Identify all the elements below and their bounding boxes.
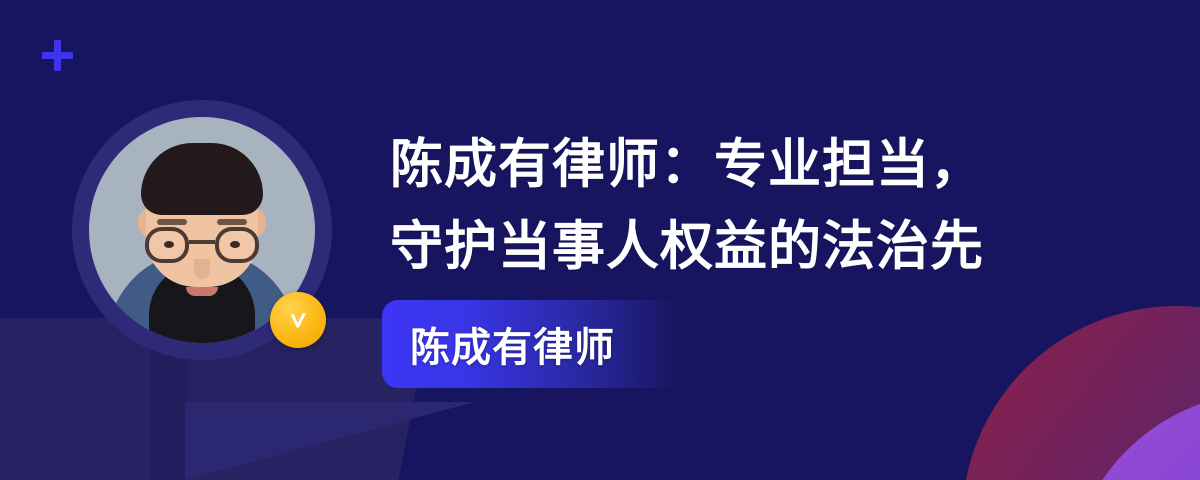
avatar[interactable] bbox=[72, 100, 332, 360]
decor-purple-circle bbox=[1068, 392, 1200, 480]
verified-badge-icon bbox=[270, 292, 326, 348]
lawyer-name-label: 陈成有律师 bbox=[410, 315, 615, 373]
decor-triangle-shape bbox=[185, 402, 475, 480]
lawyer-profile-banner: 陈成有律师：专业担当， 守护当事人权益的法治先 锋 陈成有律师 bbox=[0, 0, 1200, 480]
plus-icon bbox=[42, 40, 73, 71]
lawyer-name-badge[interactable]: 陈成有律师 bbox=[382, 300, 712, 388]
